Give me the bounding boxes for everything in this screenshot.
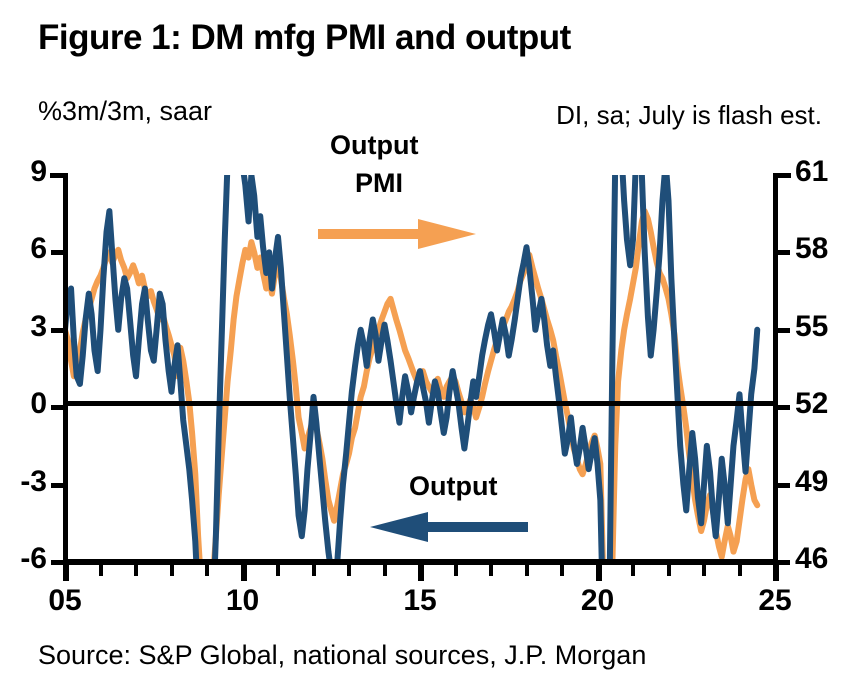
x-axis-tick-label: 25: [758, 584, 791, 618]
left-axis-tick: [51, 328, 66, 333]
x-axis-major-tick: [63, 565, 69, 581]
x-axis-tick-label: 10: [226, 584, 259, 618]
right-axis-tick-label: 46: [795, 542, 828, 576]
x-axis-minor-tick: [205, 565, 209, 576]
left-axis-tick-label: 6: [30, 232, 47, 266]
right-axis-tick: [775, 250, 790, 255]
x-axis-minor-tick: [631, 565, 635, 576]
right-axis-tick-label: 55: [795, 310, 828, 344]
x-axis-major-tick: [773, 565, 779, 581]
x-axis-minor-tick: [702, 565, 706, 576]
left-axis-tick: [51, 405, 66, 410]
left-axis-tick-label: 9: [30, 155, 47, 189]
x-axis-tick-label: 05: [48, 584, 81, 618]
right-axis-tick-label: 58: [795, 232, 828, 266]
x-axis-tick-label: 20: [581, 584, 614, 618]
right-axis-tick: [775, 405, 790, 410]
left-axis-line: [63, 173, 68, 564]
right-axis-tick-label: 61: [795, 155, 828, 189]
x-axis-minor-tick: [383, 565, 387, 576]
zero-reference-line: [63, 401, 778, 406]
right-axis-tick: [775, 328, 790, 333]
plot-area: [65, 175, 775, 562]
left-axis-tick-label: 3: [30, 310, 47, 344]
x-axis-minor-tick: [525, 565, 529, 576]
x-axis-minor-tick: [170, 565, 174, 576]
figure-container: Figure 1: DM mfg PMI and output %3m/3m, …: [0, 0, 852, 689]
x-axis-minor-tick: [738, 565, 742, 576]
x-axis-minor-tick: [134, 565, 138, 576]
left-axis-tick: [51, 173, 66, 178]
right-axis-tick: [775, 173, 790, 178]
x-axis-minor-tick: [489, 565, 493, 576]
x-axis-tick-label: 15: [403, 584, 436, 618]
figure-title: Figure 1: DM mfg PMI and output: [38, 18, 571, 58]
x-axis-major-tick: [418, 565, 424, 581]
x-axis-minor-tick: [560, 565, 564, 576]
x-axis-minor-tick: [347, 565, 351, 576]
x-axis-minor-tick: [312, 565, 316, 576]
x-axis-major-tick: [596, 565, 602, 581]
x-axis-minor-tick: [667, 565, 671, 576]
left-axis-tick: [51, 483, 66, 488]
right-axis-tick-label: 52: [795, 387, 828, 421]
left-axis-tick-label: -3: [20, 465, 47, 499]
right-axis-tick: [775, 483, 790, 488]
left-axis-tick: [51, 250, 66, 255]
right-axis-unit-label: DI, sa; July is flash est.: [556, 100, 822, 131]
annotation-output-pmi-line1: Output: [330, 130, 418, 161]
series-canvas: [65, 175, 775, 562]
right-axis-line: [773, 173, 778, 564]
x-axis-minor-tick: [99, 565, 103, 576]
source-note: Source: S&P Global, national sources, J.…: [38, 640, 646, 671]
left-axis-unit-label: %3m/3m, saar: [38, 96, 212, 127]
right-axis-tick-label: 49: [795, 465, 828, 499]
x-axis-minor-tick: [454, 565, 458, 576]
left-axis-tick-label: 0: [30, 387, 47, 421]
x-axis-major-tick: [241, 565, 247, 581]
left-axis-tick-label: -6: [20, 542, 47, 576]
x-axis-minor-tick: [276, 565, 280, 576]
